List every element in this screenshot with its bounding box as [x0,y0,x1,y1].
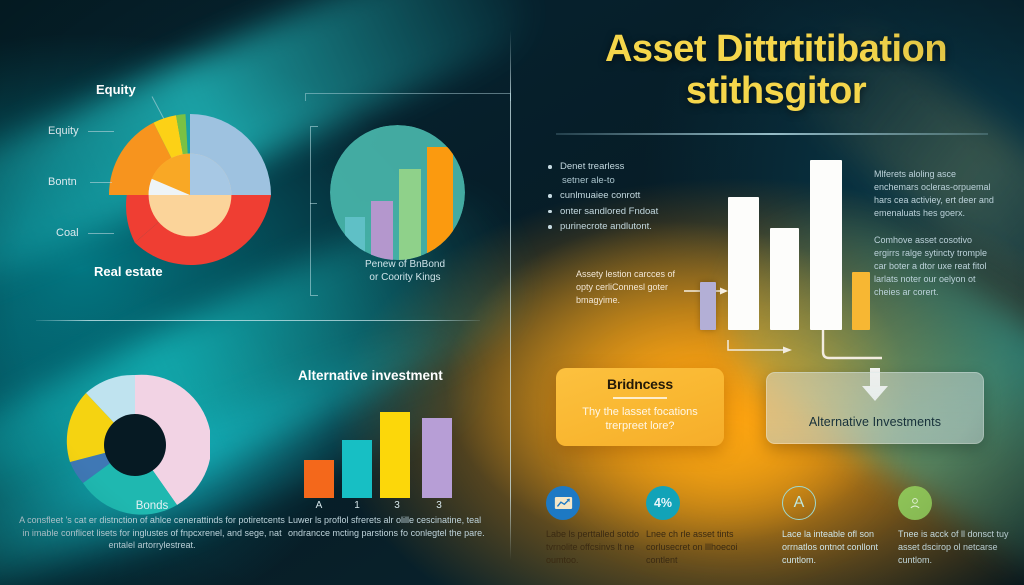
alt-chart-axis: A 1 3 3 [300,500,460,511]
title-underline-rule [556,133,988,135]
alt-bar-1 [304,460,334,498]
right-paragraph-2: Comhove asset cosotivo ergirrs ralge syt… [874,234,994,299]
pie-chart-title: Bonds [18,500,286,512]
icon-card-text: Tnee is acck of ll donsct tuy asset dsci… [898,528,1016,567]
letter-value: A [794,494,805,512]
icon-card-4[interactable]: Tnee is acck of ll donsct tuy asset dsci… [898,486,1016,567]
bar-mid-white [770,228,799,330]
pie-chart-caption-block: Bonds A consfleet 's cat er distnction o… [18,500,286,552]
icon-card-text: Lnee ch rle asset tints corlusecret on l… [646,528,764,567]
bridncess-panel[interactable]: Bridncess Thy the lasset focations trerp… [556,368,724,446]
list-item: onter sandlored Fndoat [546,205,726,219]
mini-chart-bracket-left [310,126,318,296]
alt-bar-3 [380,412,410,498]
chart-envelope-icon [546,486,580,520]
letter-a-icon: A [782,486,816,520]
donut-title: Equity [96,82,136,97]
alt-axis-label-1: A [300,500,338,511]
mini-chart-bracket-top [305,93,511,101]
right-paragraph-1: Mlferets aloling asce enchemars ocleras-… [874,168,994,220]
page-title-line2: stithsgitor [556,70,996,112]
bullet-text: onter sandlored Fndoat [560,206,658,217]
green-dot-icon [898,486,932,520]
mini-chart-caption: Penew of BnBond or Coority Kings [320,258,490,284]
bullet-list: Denet trearless setner ale-to cunlmuaiee… [546,160,726,236]
mini-caption-line1: Penew of BnBond [365,259,445,270]
mini-bar-chart [330,125,465,260]
bar-tallest-white [810,160,842,330]
mini-chart-tick [310,203,317,204]
page-title: Asset Dittrtitibation stithsgitor [556,28,996,112]
bullet-text: Denet trearless [560,161,624,172]
donut-leader-3 [88,233,114,234]
donut-label-cash: Coal [56,227,79,239]
alt-chart-title: Alternative investment [298,368,443,383]
page-title-line1: Asset Dittrtitibation [605,28,947,70]
vertical-divider [510,30,511,560]
alt-axis-label-4: 3 [418,500,460,511]
panel-label: Alternative Investments [809,415,941,429]
panel-rule [613,397,667,399]
main-bar-chart [700,160,880,330]
donut-leader-1 [88,131,114,132]
infographic-canvas: Asset Dittrtitibation stithsgitor Denet … [0,0,1024,585]
bullet-text: cunlmuaiee conrott [560,190,640,201]
bar-tall-white-1 [728,197,759,330]
percent-badge-icon: 4% [646,486,680,520]
horizontal-divider [36,320,480,321]
pie-chart [60,370,210,520]
connector-arrow-right-icon [726,338,796,360]
list-item: Denet trearless setner ale-to [546,160,726,187]
alt-bar-chart [300,398,460,498]
donut-label-equity: Equity [48,125,79,137]
percent-value: 4% [654,496,672,510]
panel-body: Thy the lasset focations trerpreet lore? [556,405,724,433]
mini-caption-line2: or Coority Kings [369,272,440,283]
donut-leader-2 [90,182,112,183]
donut-inner-ring [149,154,232,237]
alt-bar-2 [342,440,372,498]
list-item: cunlmuaiee conrott [546,189,726,203]
icon-card-text: Lace la inteable ofl son orrnatlos ontno… [782,528,900,567]
arrow-caption: Assety lestion carcces of opty cerliConn… [576,268,688,307]
panel-heading: Bridncess [556,376,724,392]
donut-label-bonds: Bontn [48,176,77,188]
pie-chart-caption: A consfleet 's cat er distnction of ahlc… [18,514,286,552]
bar-amber [852,272,870,330]
bar-small-lavender [700,282,716,330]
list-item: purinecrote andlutont. [546,220,726,234]
alt-chart-caption: Luwer ls proflol sfrerets alr olille ces… [288,514,488,539]
icon-card-3[interactable]: A Lace la inteable ofl son orrnatlos ont… [782,486,900,567]
right-text-column: Mlferets aloling asce enchemars ocleras-… [874,168,994,313]
donut-chart [100,105,280,285]
icon-card-2[interactable]: 4% Lnee ch rle asset tints corlusecret o… [646,486,764,567]
bullet-text: purinecrote andlutont. [560,221,652,232]
alt-bar-4 [422,418,452,498]
alt-axis-label-3: 3 [376,500,418,511]
alternative-investments-panel[interactable]: Alternative Investments [766,372,984,444]
donut-bottom-label: Real estate [94,264,163,279]
alt-axis-label-2: 1 [338,500,376,511]
